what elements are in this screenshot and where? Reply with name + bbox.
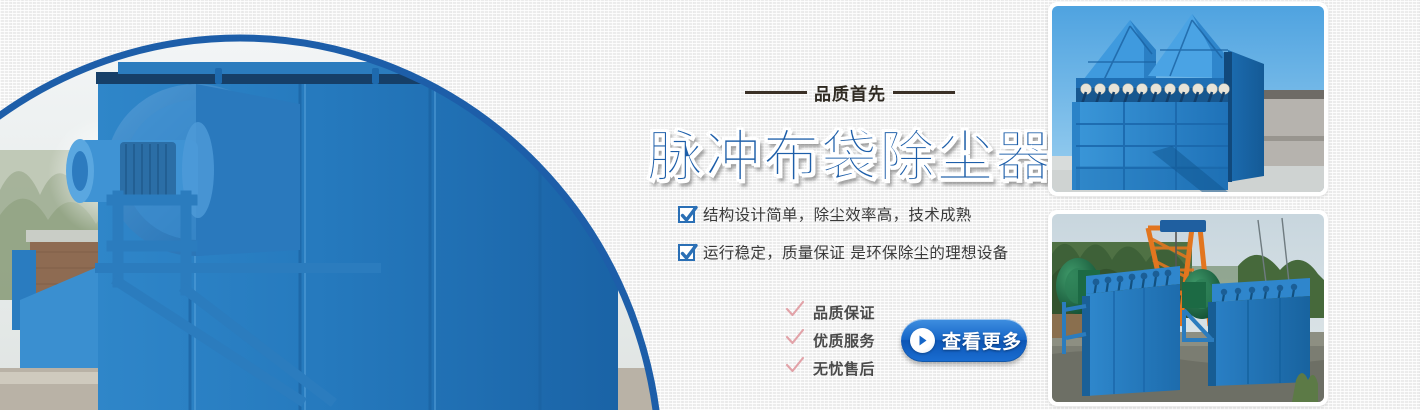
benefit-label: 优质服务 [813,330,875,351]
feature-label: 结构设计简单，除尘效率高，技术成熟 [703,203,972,225]
benefit-list: 品质保证 优质服务 无忧售后 [785,300,875,380]
checkbox-checked-icon [678,244,695,261]
check-mark-icon [785,356,805,380]
benefit-label: 品质保证 [813,302,875,323]
feature-label: 运行稳定，质量保证 是环保除尘的理想设备 [703,241,1008,263]
tagline-rule-left [745,91,807,94]
feature-item: 运行稳定，质量保证 是环保除尘的理想设备 [678,241,1068,263]
benefit-label: 无忧售后 [813,358,875,379]
view-more-button[interactable]: 查看更多 [901,319,1027,362]
checkbox-checked-icon [678,206,695,223]
tagline-rule-right [893,91,955,94]
benefit-item: 品质保证 [785,300,875,324]
benefit-item: 优质服务 [785,328,875,352]
play-arrow-circle-icon [910,328,935,353]
benefit-item: 无忧售后 [785,356,875,380]
tagline: 品质首先 [640,80,1060,105]
feature-list: 结构设计简单，除尘效率高，技术成熟 运行稳定，质量保证 是环保除尘的理想设备 [678,203,1068,279]
check-mark-icon [785,300,805,324]
center-content: 品质首先 脉冲布袋除尘器 结构设计简单，除尘效率高，技术成熟 运行稳 [640,0,1060,410]
cta-row: 品质保证 优质服务 无忧售后 [785,300,1027,380]
check-mark-icon [785,328,805,352]
product-photo-top[interactable] [1048,2,1328,196]
feature-item: 结构设计简单，除尘效率高，技术成熟 [678,203,1068,225]
product-photo-bottom[interactable] [1048,210,1328,406]
hero-photo [0,0,690,410]
promo-banner: 品质首先 脉冲布袋除尘器 结构设计简单，除尘效率高，技术成熟 运行稳 [0,0,1420,410]
page-title: 脉冲布袋除尘器 [640,112,1060,193]
tagline-text: 品质首先 [814,80,886,105]
view-more-label: 查看更多 [942,327,1022,354]
